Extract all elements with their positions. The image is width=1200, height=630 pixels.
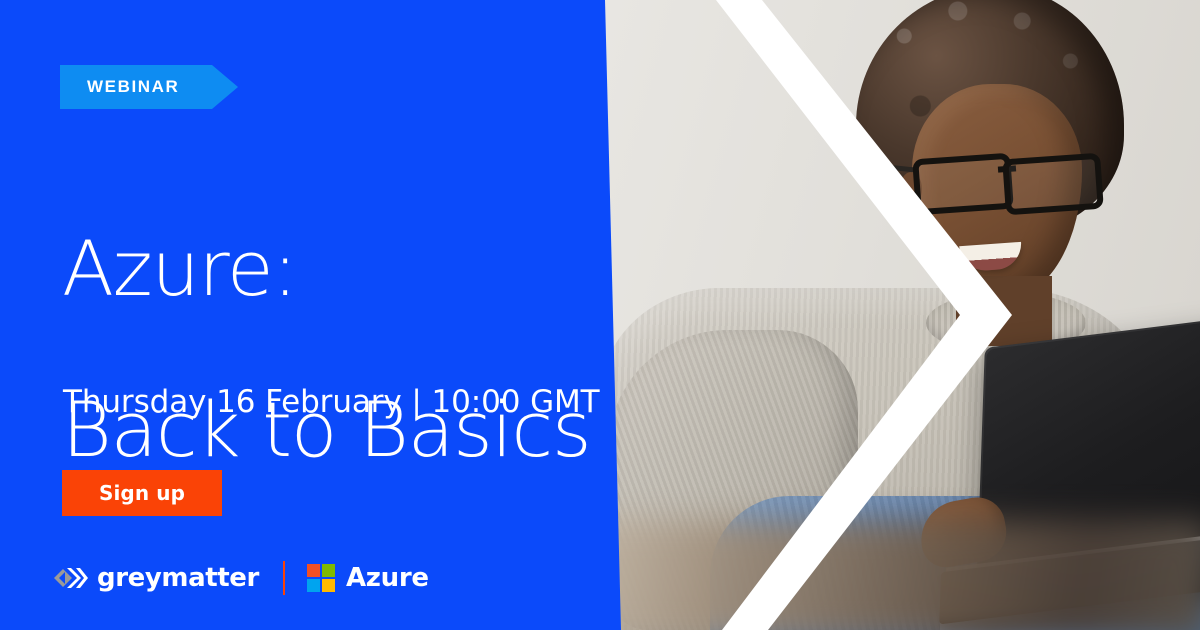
hero-photo (560, 0, 1200, 630)
glasses-lens-left (912, 153, 1014, 216)
ms-square-green (322, 564, 335, 577)
banner-content: WEBINAR Azure: Back to Basics Thursday 1… (0, 0, 605, 630)
event-datetime: Thursday 16 February | 10:00 GMT (63, 384, 600, 420)
logo-divider (283, 561, 285, 595)
ms-square-yellow (322, 579, 335, 592)
azure-wordmark: Azure (346, 563, 429, 593)
sign-up-button[interactable]: Sign up (62, 470, 222, 516)
photo-backdrop (560, 0, 1200, 630)
webinar-banner: WEBINAR Azure: Back to Basics Thursday 1… (0, 0, 1200, 630)
page-title-line-1: Azure: (62, 229, 622, 310)
ms-square-red (307, 564, 320, 577)
greymatter-logo[interactable]: greymatter (54, 563, 259, 593)
greymatter-wordmark: greymatter (97, 563, 259, 593)
footer-logos: greymatter Azure (54, 560, 429, 596)
ms-square-blue (307, 579, 320, 592)
microsoft-four-squares-icon (307, 564, 335, 592)
greymatter-double-chevron-icon (54, 565, 88, 591)
foreground-blur (560, 520, 1200, 630)
neck (956, 276, 1052, 346)
webinar-badge-label: WEBINAR (60, 77, 179, 97)
eyeglasses (904, 150, 1104, 202)
webinar-badge: WEBINAR (60, 65, 238, 109)
glasses-lens-right (1002, 153, 1104, 216)
azure-logo[interactable]: Azure (307, 563, 429, 593)
